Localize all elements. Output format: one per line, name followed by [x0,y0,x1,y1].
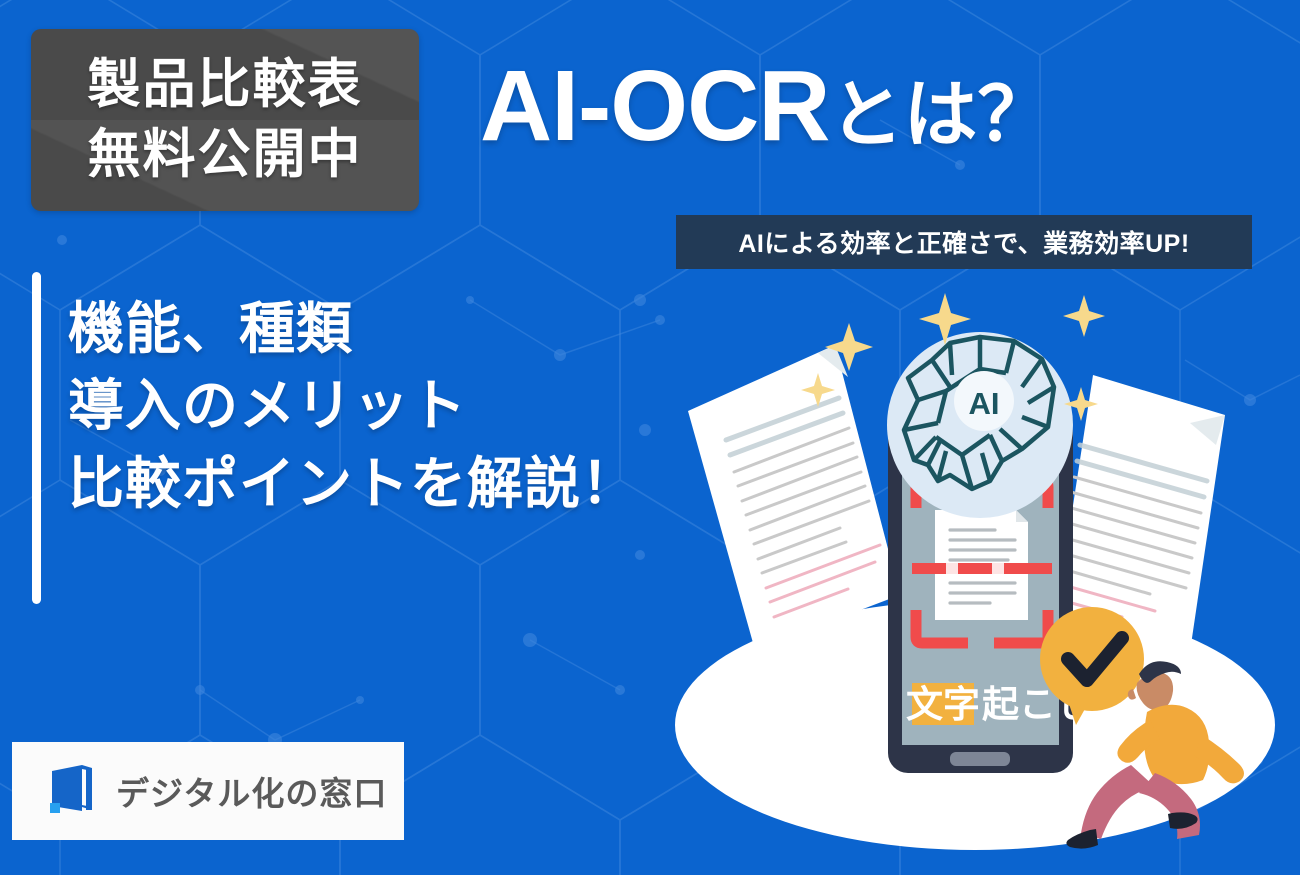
page-title: AI-OCRとは？ [480,56,1052,156]
brand-logo-text: デジタル化の窓口 [116,767,387,815]
promo-badge-line-2: 無料公開中 [88,120,363,190]
headline-line-3: 比較ポイントを解説！ [68,445,638,522]
headline-block: 機能、種類 導入のメリット 比較ポイントを解説！ [68,290,638,522]
brand-logo[interactable]: デジタル化の窓口 [12,742,404,840]
door-window-icon [48,762,100,820]
title-block: AI-OCRとは？ [480,56,1052,156]
promo-badge: 製品比較表 無料公開中 [31,29,419,211]
promo-badge-line-1: 製品比較表 [88,50,363,120]
ai-brain-icon: AI [887,332,1073,518]
subtitle-text: AIによる効率と正確さで、業務効率UP! [738,224,1189,260]
subtitle-banner: AIによる効率と正確さで、業務効率UP! [676,215,1252,269]
document-icon-left [688,345,900,650]
ai-ocr-illustration: 文字 起こし AI [650,265,1300,875]
headline-line-1: 機能、種類 [68,290,638,367]
page-title-main: AI-OCR [480,50,830,162]
page-title-suffix: とは？ [830,73,1052,156]
ai-badge-label: AI [969,386,1000,421]
accent-bar [32,272,41,604]
scan-line-icon [912,563,1052,574]
scan-label-highlight: 文字 [906,684,980,725]
hero-banner: 製品比較表 無料公開中 AI-OCRとは？ AIによる効率と正確さで、業務効率U… [0,0,1300,875]
headline-line-2: 導入のメリット [68,367,638,444]
